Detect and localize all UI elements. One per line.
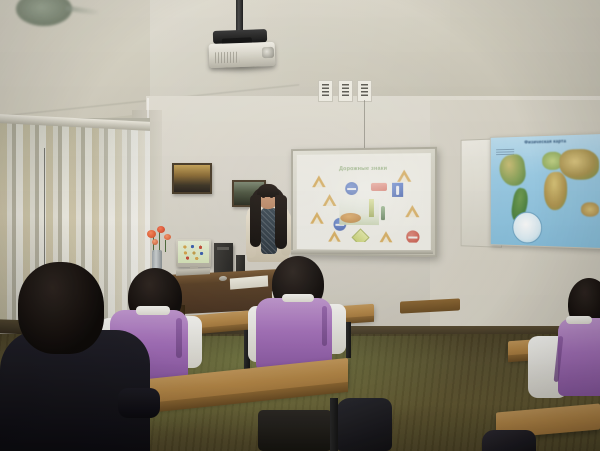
projected-slide: Дорожные знаки xyxy=(304,160,423,242)
flower-bloom-1 xyxy=(147,230,156,238)
wall-grille-1 xyxy=(318,80,333,102)
projector-mount-pole xyxy=(236,0,243,34)
whiteboard-surface: Дорожные знаки xyxy=(297,153,431,251)
monitor-screen xyxy=(178,241,209,263)
slide-sign-red-pill-1 xyxy=(371,183,387,191)
interactive-whiteboard[interactable]: Дорожные знаки xyxy=(291,147,437,257)
framed-landscape-painting-1 xyxy=(172,163,212,194)
slide-sign-triangle-2 xyxy=(323,194,337,206)
slide-sign-triangle-7 xyxy=(379,231,393,243)
student-desk-center-leg xyxy=(346,322,351,358)
slide-sign-red-circle xyxy=(406,230,419,242)
slide-road-surface xyxy=(340,213,361,223)
slide-sign-triangle-4 xyxy=(328,231,342,243)
student-foreground-sleeve xyxy=(118,388,160,418)
slide-sign-pedestrian xyxy=(392,183,403,197)
whiteboard-marker-tray xyxy=(291,250,433,254)
slide-traffic-light-icon xyxy=(369,199,374,217)
foreground-desk-leg xyxy=(330,398,338,451)
student-chair-back[interactable] xyxy=(258,410,332,451)
map-africa xyxy=(544,172,567,211)
school-backpack[interactable] xyxy=(336,398,392,451)
projector-lens-icon xyxy=(262,47,274,58)
map-asia xyxy=(559,149,599,180)
map-polar-inset xyxy=(512,212,542,244)
map-title: Физическая карта xyxy=(491,137,600,145)
presenter-hair-right xyxy=(275,195,287,249)
flower-bloom-3 xyxy=(164,234,171,240)
projector-vents xyxy=(215,52,239,64)
student-center-vest xyxy=(256,298,332,370)
presenter-hair-left xyxy=(250,195,261,247)
desktop-pc-tower[interactable] xyxy=(214,243,233,275)
student-right-vest xyxy=(558,318,600,396)
wall-grille-2 xyxy=(338,80,353,102)
flower-stem-2 xyxy=(159,232,160,252)
student-center-vest-stripe xyxy=(322,306,327,346)
blinds-cord[interactable] xyxy=(44,148,45,278)
flower-bloom-4 xyxy=(152,239,158,245)
slide-sign-triangle-6 xyxy=(405,205,419,217)
slide-sign-diamond xyxy=(351,228,369,242)
slide-sign-blue-circle-1 xyxy=(345,182,358,195)
map-north-america xyxy=(498,153,527,188)
slide-sign-triangle-5 xyxy=(397,170,411,182)
flower-stem-3 xyxy=(165,240,166,252)
classroom-photo: Дорожные знаки xyxy=(0,0,600,451)
slide-sign-triangle-1 xyxy=(312,175,326,187)
student-center-collar xyxy=(282,294,314,302)
world-physical-map: Физическая карта xyxy=(490,133,600,249)
slide-sign-triangle-3 xyxy=(310,212,324,224)
bottom-right-backpack[interactable] xyxy=(482,430,536,451)
student-midleft-collar xyxy=(136,306,170,315)
student-foreground-head xyxy=(18,262,104,354)
flower-bloom-2 xyxy=(157,226,165,233)
monitor-slide-thumbnail xyxy=(180,243,207,261)
student-right-collar xyxy=(566,316,592,324)
projector-cable xyxy=(364,100,365,148)
map-australia xyxy=(581,202,599,217)
wall-grille-3 xyxy=(357,80,372,102)
slide-pedestrian-figure xyxy=(381,206,385,220)
student-midleft-vest-stripe xyxy=(176,318,182,358)
